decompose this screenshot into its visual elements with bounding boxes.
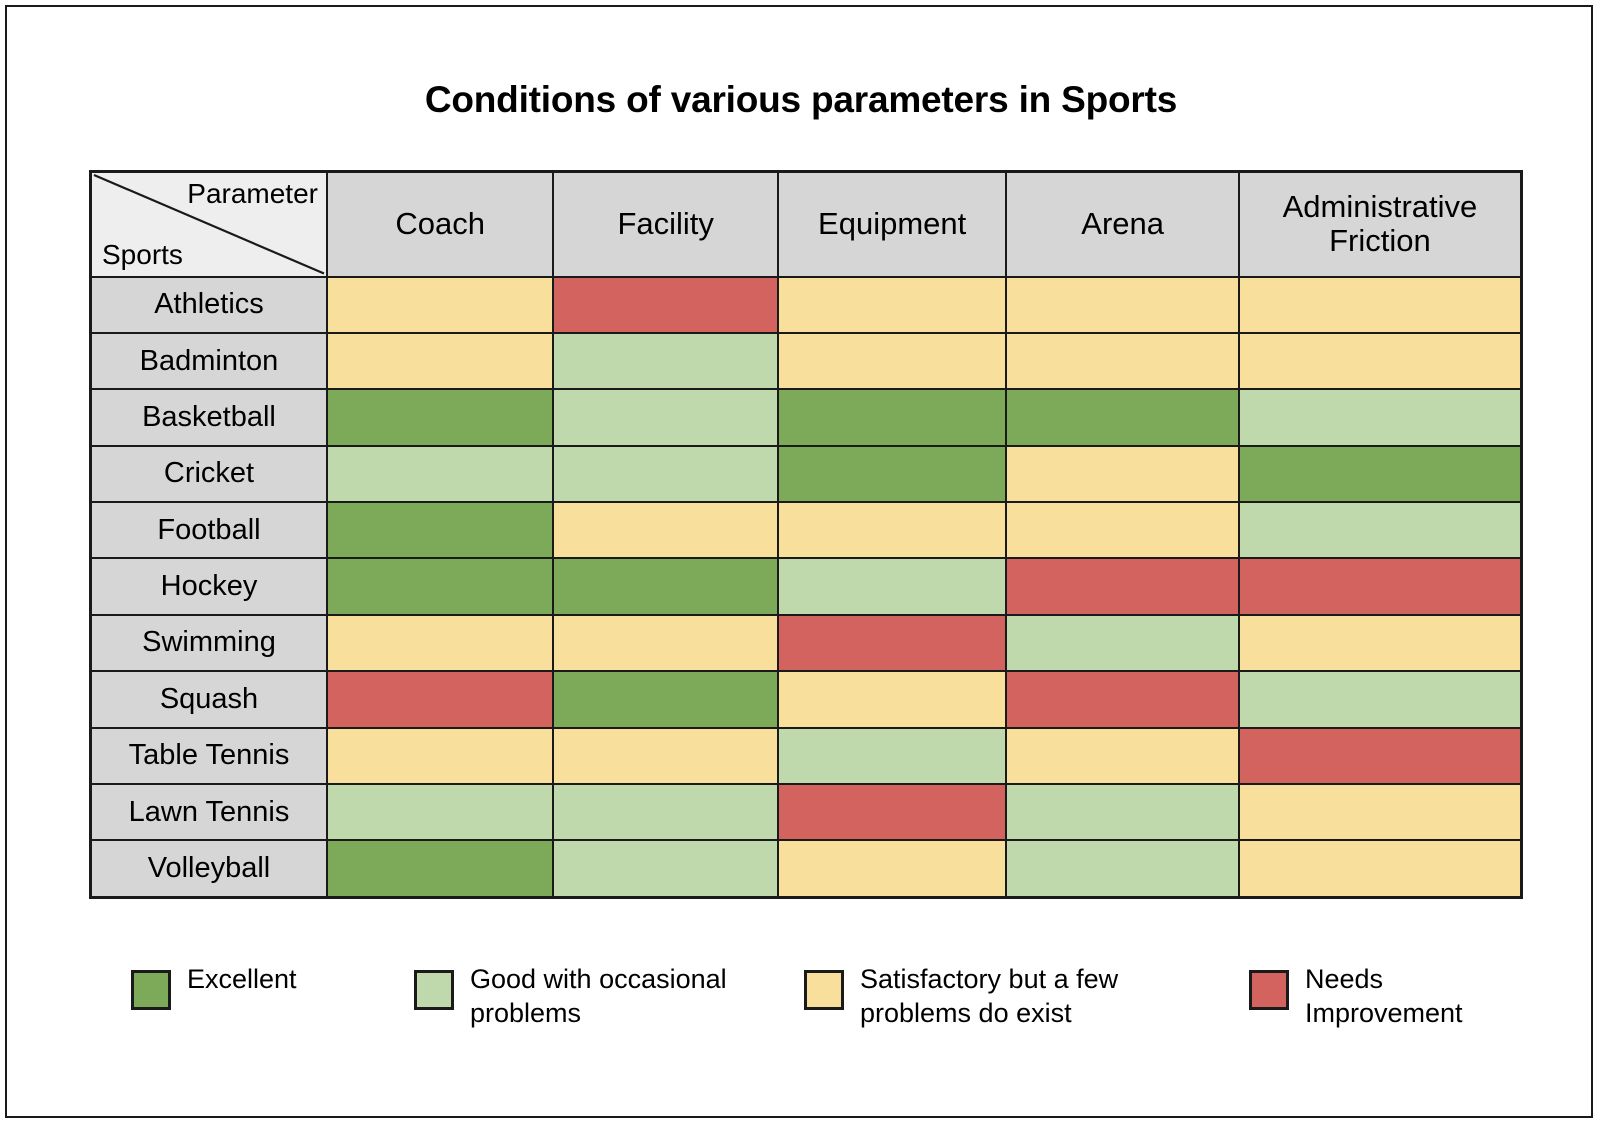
- legend: ExcellentGood with occasional problemsSa…: [89, 962, 1523, 1062]
- table-row: Cricket: [91, 446, 1522, 502]
- cell-volleyball-coach: [327, 840, 553, 897]
- heatmap-matrix: Parameter Sports CoachFacilityEquipmentA…: [89, 170, 1523, 899]
- row-header-volleyball: Volleyball: [91, 840, 327, 897]
- cell-cricket-facility: [553, 446, 777, 502]
- cell-table-tennis-administrative-friction: [1239, 728, 1522, 784]
- cell-hockey-equipment: [778, 558, 1006, 614]
- row-header-table-tennis: Table Tennis: [91, 728, 327, 784]
- cell-swimming-coach: [327, 615, 553, 671]
- cell-cricket-arena: [1006, 446, 1238, 502]
- corner-row-axis-label: Sports: [102, 240, 183, 269]
- cell-squash-facility: [553, 671, 777, 727]
- cell-volleyball-equipment: [778, 840, 1006, 897]
- row-header-swimming: Swimming: [91, 615, 327, 671]
- cell-swimming-administrative-friction: [1239, 615, 1522, 671]
- cell-swimming-facility: [553, 615, 777, 671]
- cell-athletics-facility: [553, 277, 777, 333]
- cell-squash-equipment: [778, 671, 1006, 727]
- cell-hockey-arena: [1006, 558, 1238, 614]
- column-header-facility: Facility: [553, 172, 777, 277]
- legend-item-satisfactory: Satisfactory but a few problems do exist: [804, 962, 1160, 1030]
- cell-badminton-arena: [1006, 333, 1238, 389]
- table-row: Football: [91, 502, 1522, 558]
- cell-lawn-tennis-arena: [1006, 784, 1238, 840]
- cell-badminton-facility: [553, 333, 777, 389]
- row-header-lawn-tennis: Lawn Tennis: [91, 784, 327, 840]
- cell-basketball-facility: [553, 389, 777, 445]
- legend-swatch-good: [414, 970, 454, 1010]
- cell-cricket-coach: [327, 446, 553, 502]
- legend-item-good: Good with occasional problems: [414, 962, 770, 1030]
- corner-column-axis-label: Parameter: [187, 179, 318, 208]
- column-header-coach: Coach: [327, 172, 553, 277]
- cell-volleyball-facility: [553, 840, 777, 897]
- cell-cricket-equipment: [778, 446, 1006, 502]
- cell-table-tennis-equipment: [778, 728, 1006, 784]
- row-header-cricket: Cricket: [91, 446, 327, 502]
- column-header-equipment: Equipment: [778, 172, 1006, 277]
- legend-swatch-satisfactory: [804, 970, 844, 1010]
- cell-swimming-equipment: [778, 615, 1006, 671]
- row-header-hockey: Hockey: [91, 558, 327, 614]
- cell-table-tennis-coach: [327, 728, 553, 784]
- table-row: Hockey: [91, 558, 1522, 614]
- matrix-table: Parameter Sports CoachFacilityEquipmentA…: [89, 170, 1523, 899]
- cell-football-facility: [553, 502, 777, 558]
- table-row: Badminton: [91, 333, 1522, 389]
- table-row: Swimming: [91, 615, 1522, 671]
- row-header-basketball: Basketball: [91, 389, 327, 445]
- legend-item-needs-improvement: Needs Improvement: [1249, 962, 1523, 1030]
- cell-basketball-administrative-friction: [1239, 389, 1522, 445]
- legend-swatch-needs-improvement: [1249, 970, 1289, 1010]
- table-row: Squash: [91, 671, 1522, 727]
- page-frame: Conditions of various parameters in Spor…: [5, 5, 1593, 1118]
- legend-label-satisfactory: Satisfactory but a few problems do exist: [860, 962, 1160, 1030]
- matrix-header-row: Parameter Sports CoachFacilityEquipmentA…: [91, 172, 1522, 277]
- legend-label-good: Good with occasional problems: [470, 962, 770, 1030]
- cell-athletics-equipment: [778, 277, 1006, 333]
- cell-lawn-tennis-facility: [553, 784, 777, 840]
- cell-athletics-coach: [327, 277, 553, 333]
- cell-hockey-coach: [327, 558, 553, 614]
- legend-label-excellent: Excellent: [187, 962, 297, 996]
- cell-squash-arena: [1006, 671, 1238, 727]
- matrix-body: AthleticsBadmintonBasketballCricketFootb…: [91, 277, 1522, 898]
- table-row: Basketball: [91, 389, 1522, 445]
- table-row: Lawn Tennis: [91, 784, 1522, 840]
- cell-hockey-facility: [553, 558, 777, 614]
- cell-football-administrative-friction: [1239, 502, 1522, 558]
- row-header-badminton: Badminton: [91, 333, 327, 389]
- row-header-football: Football: [91, 502, 327, 558]
- cell-lawn-tennis-administrative-friction: [1239, 784, 1522, 840]
- cell-hockey-administrative-friction: [1239, 558, 1522, 614]
- cell-badminton-coach: [327, 333, 553, 389]
- cell-athletics-administrative-friction: [1239, 277, 1522, 333]
- cell-basketball-coach: [327, 389, 553, 445]
- cell-football-arena: [1006, 502, 1238, 558]
- cell-table-tennis-facility: [553, 728, 777, 784]
- cell-badminton-equipment: [778, 333, 1006, 389]
- cell-athletics-arena: [1006, 277, 1238, 333]
- table-row: Volleyball: [91, 840, 1522, 897]
- cell-squash-coach: [327, 671, 553, 727]
- cell-lawn-tennis-equipment: [778, 784, 1006, 840]
- cell-table-tennis-arena: [1006, 728, 1238, 784]
- cell-badminton-administrative-friction: [1239, 333, 1522, 389]
- cell-basketball-equipment: [778, 389, 1006, 445]
- cell-swimming-arena: [1006, 615, 1238, 671]
- row-header-athletics: Athletics: [91, 277, 327, 333]
- table-row: Athletics: [91, 277, 1522, 333]
- cell-cricket-administrative-friction: [1239, 446, 1522, 502]
- column-header-administrative-friction: Administrative Friction: [1239, 172, 1522, 277]
- cell-lawn-tennis-coach: [327, 784, 553, 840]
- cell-basketball-arena: [1006, 389, 1238, 445]
- table-row: Table Tennis: [91, 728, 1522, 784]
- cell-squash-administrative-friction: [1239, 671, 1522, 727]
- cell-football-equipment: [778, 502, 1006, 558]
- legend-item-excellent: Excellent: [131, 962, 297, 1010]
- cell-football-coach: [327, 502, 553, 558]
- column-header-arena: Arena: [1006, 172, 1238, 277]
- corner-axis-cell: Parameter Sports: [91, 172, 327, 277]
- cell-volleyball-arena: [1006, 840, 1238, 897]
- cell-volleyball-administrative-friction: [1239, 840, 1522, 897]
- page-title: Conditions of various parameters in Spor…: [7, 79, 1595, 121]
- row-header-squash: Squash: [91, 671, 327, 727]
- legend-swatch-excellent: [131, 970, 171, 1010]
- legend-label-needs-improvement: Needs Improvement: [1305, 962, 1523, 1030]
